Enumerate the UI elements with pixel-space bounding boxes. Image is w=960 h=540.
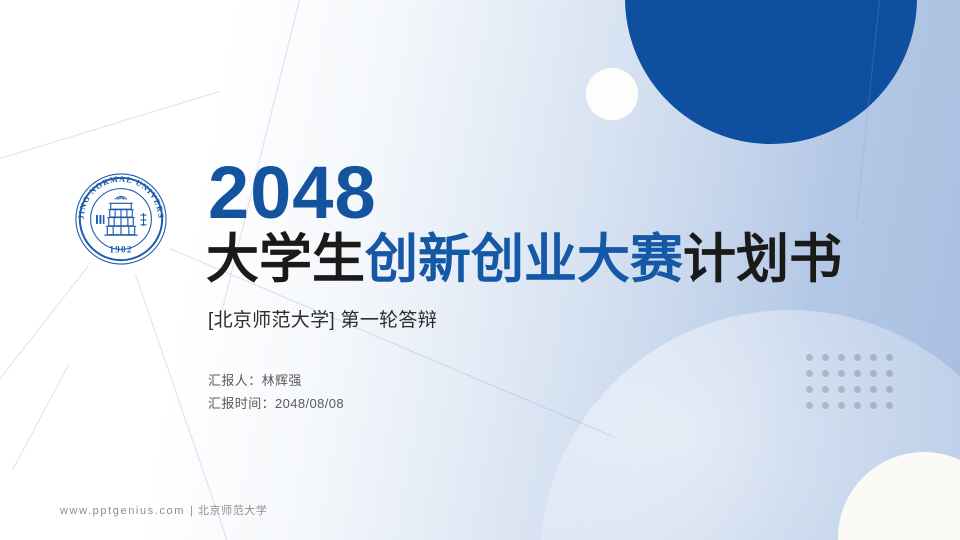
footer-site: www.pptgenius.com [60, 505, 185, 517]
slide-headline: 大学生创新创业大赛计划书 [206, 232, 842, 288]
slide-footer: www.pptgenius.com|北京师范大学 [60, 502, 268, 518]
slide-content: 2048 大学生创新创业大赛计划书 [北京师范大学] 第一轮答辩 汇报人：林辉强… [208, 0, 848, 540]
university-seal-icon: BEIJING NORMAL UNIVERSITY 1902 [72, 170, 170, 268]
svg-text:1902: 1902 [109, 245, 132, 255]
hairline-decoration [0, 91, 220, 159]
footer-separator: | [190, 505, 193, 517]
slide-subtitle: [北京师范大学] 第一轮答辩 [208, 305, 437, 332]
date-label: 汇报时间：2048/08/08 [208, 393, 344, 416]
slide-meta: 汇报人：林辉强 汇报时间：2048/08/08 [208, 370, 344, 416]
hairline-decoration [12, 364, 69, 470]
title-slide: BEIJING NORMAL UNIVERSITY 1902 [0, 0, 960, 540]
white-circle-decoration [838, 452, 960, 540]
headline-suffix: 计划书 [683, 230, 842, 289]
hairline-decoration [856, 0, 880, 219]
presenter-label: 汇报人：林辉强 [208, 370, 344, 393]
footer-org: 北京师范大学 [198, 505, 268, 517]
year-label: 2048 [208, 156, 377, 230]
university-logo: BEIJING NORMAL UNIVERSITY 1902 [64, 162, 178, 276]
headline-prefix: 大学生 [206, 230, 365, 289]
headline-accent: 创新创业大赛 [365, 230, 683, 289]
